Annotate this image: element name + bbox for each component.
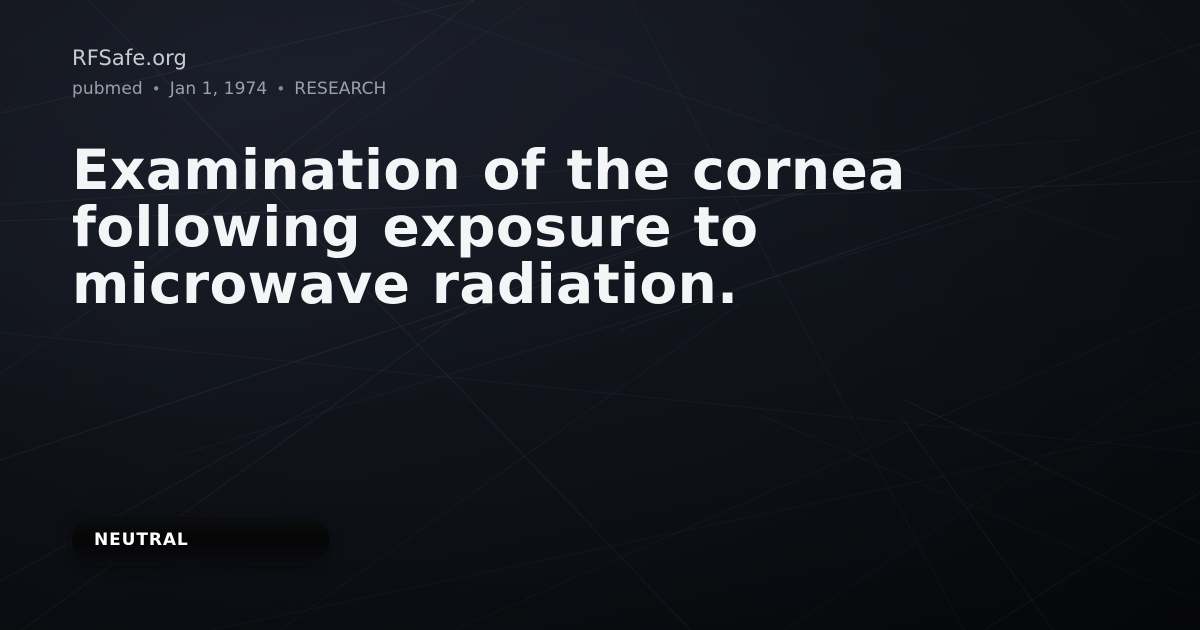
badge-row: NEUTRAL [72,516,330,564]
meta-category: RESEARCH [294,77,386,101]
meta-line: pubmed • Jan 1, 1974 • RESEARCH [72,77,1128,101]
status-badge-label: NEUTRAL [94,532,189,549]
status-badge: NEUTRAL [72,516,330,564]
meta-date: Jan 1, 1974 [170,77,268,101]
meta-separator-icon-2: • [276,77,285,101]
site-name: RFSafe.org [72,44,1128,72]
meta-separator-icon: • [152,77,161,101]
social-share-card: RFSafe.org pubmed • Jan 1, 1974 • RESEAR… [0,0,1200,630]
page-title: Examination of the cornea following expo… [72,142,992,313]
meta-source: pubmed [72,77,143,101]
